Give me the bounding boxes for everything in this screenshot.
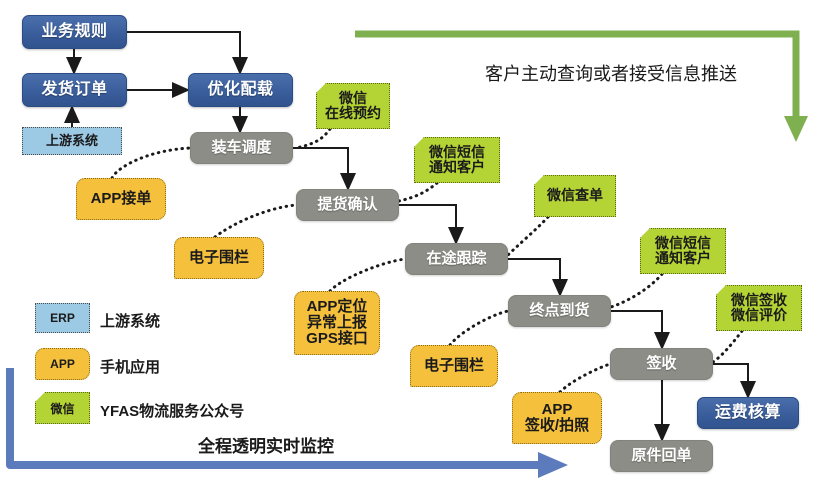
node-wechat-sms-2[interactable]: 微信短信 通知客户 xyxy=(640,228,726,274)
legend-swatch-erp: ERP xyxy=(35,303,90,333)
node-geo-fence-1[interactable]: 电子围栏 xyxy=(174,237,264,279)
node-app-accept-order[interactable]: APP接单 xyxy=(76,178,166,220)
conn-transit-to-arrival xyxy=(508,259,560,288)
link-wechat-booking xyxy=(296,129,330,148)
legend-label-app: 手机应用 xyxy=(100,356,160,377)
green-flow-arrow xyxy=(355,34,808,142)
conn-sign-to-freight xyxy=(713,364,748,390)
conn-rules-to-optimize xyxy=(127,32,240,66)
node-in-transit-track[interactable]: 在途跟踪 xyxy=(405,243,508,275)
banner-text: 客户主动查询或者接受信息推送 xyxy=(485,60,737,86)
conn-arrival-to-sign xyxy=(611,311,662,341)
link-wechat-sign-rate xyxy=(713,331,742,362)
node-wechat-query[interactable]: 微信查单 xyxy=(534,175,616,217)
conn-dispatch-to-pickup xyxy=(293,148,348,182)
node-pickup-confirm[interactable]: 提货确认 xyxy=(296,189,399,221)
link-wechat-query xyxy=(508,217,548,255)
legend-swatch-app: APP xyxy=(35,348,90,380)
node-optimize-load[interactable]: 优化配载 xyxy=(188,73,293,107)
legend-label-erp: 上游系统 xyxy=(100,310,160,331)
link-app-accept-order xyxy=(112,148,190,178)
node-load-dispatch[interactable]: 装车调度 xyxy=(190,132,293,164)
node-geo-fence-2[interactable]: 电子围栏 xyxy=(410,345,498,387)
link-geo-fence-2 xyxy=(450,311,508,345)
node-shipping-order[interactable]: 发货订单 xyxy=(22,73,127,107)
link-geo-fence-1 xyxy=(215,205,296,237)
node-upstream-system[interactable]: 上游系统 xyxy=(22,127,122,155)
node-business-rules[interactable]: 业务规则 xyxy=(22,15,127,49)
link-app-gps xyxy=(330,259,405,291)
node-wechat-sign-rate[interactable]: 微信签收 微信评价 xyxy=(716,285,802,331)
node-original-receipt[interactable]: 原件回单 xyxy=(610,440,713,472)
link-app-sign-photo xyxy=(560,364,610,392)
node-app-gps[interactable]: APP定位 异常上报 GPS接口 xyxy=(294,291,380,355)
node-app-sign-photo[interactable]: APP 签收/拍照 xyxy=(512,392,602,444)
node-freight-accounting[interactable]: 运费核算 xyxy=(697,397,799,429)
link-wechat-sms-1 xyxy=(399,183,437,201)
flowchart-canvas: 业务规则 发货订单 优化配载 上游系统 装车调度 提货确认 在途跟踪 终点到货 … xyxy=(0,0,836,482)
conn-pickup-to-transit xyxy=(399,205,456,236)
link-wechat-sms-2 xyxy=(611,274,662,307)
legend-label-wechat: YFAS物流服务公众号 xyxy=(100,400,244,421)
node-sign-receive[interactable]: 签收 xyxy=(610,348,713,380)
node-arrival[interactable]: 终点到货 xyxy=(508,295,611,327)
bottom-caption: 全程透明实时监控 xyxy=(198,432,334,457)
legend-swatch-wechat: 微信 xyxy=(35,392,90,424)
node-wechat-booking[interactable]: 微信 在线预约 xyxy=(316,83,390,129)
node-wechat-sms-1[interactable]: 微信短信 通知客户 xyxy=(414,137,500,183)
